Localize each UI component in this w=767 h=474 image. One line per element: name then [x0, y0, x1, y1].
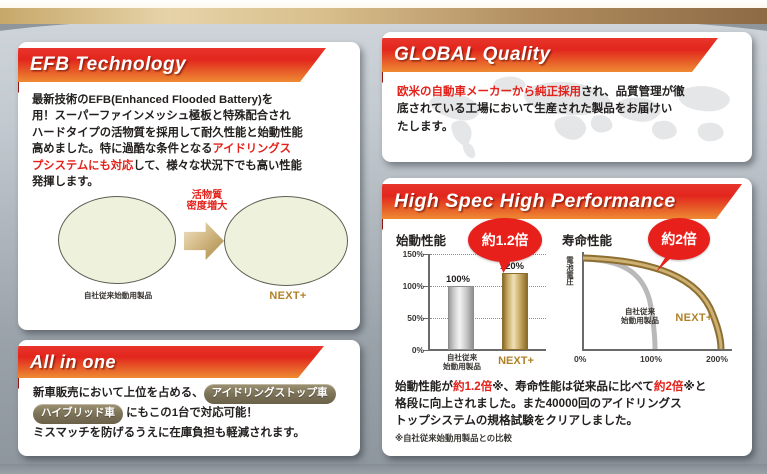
callout-balloon-1-2x-label: 約1.2倍	[482, 230, 528, 250]
ribbon-fold-shape	[382, 219, 383, 230]
diagram-ellipse-next-plus	[224, 196, 348, 286]
chart-title-life-performance: 寿命性能	[562, 230, 612, 249]
diagram-arrow-label: 活物質 密度増大	[180, 190, 234, 213]
card-all-in-one: All in one 新車販売において上位を占める、アイドリングストップ車 ハイ…	[18, 340, 360, 456]
text-span-3-1: アイドリングス	[212, 143, 291, 155]
text-span-0-0: 欧米の自動車メーカーから純正採用	[397, 86, 581, 98]
text-span-2-0: トップシステムの規格試験をクリアしました。	[395, 414, 638, 427]
text-line-1: 底されている工場において生産された製品をお届けい	[397, 101, 747, 118]
card-all-in-one-title: All in one	[30, 352, 116, 373]
text-span-0-2: を	[262, 94, 273, 106]
text-span-0-0: 始動性能が	[395, 380, 453, 393]
text-span-2-0: たします。	[397, 121, 453, 133]
card-global-quality-header-ribbon: GLOBAL Quality	[382, 38, 718, 72]
card-global-quality-paragraph: 欧米の自動車メーカーから純正採用され、品質管理が徹底されている工場において生産さ…	[397, 84, 747, 136]
text-line-3: 高めました。特に過酷な条件となるアイドリングス	[32, 141, 350, 157]
callout-balloon-2x: 約2倍	[648, 218, 710, 260]
line-label-conventional: 自社従来 始動用製品	[612, 308, 668, 325]
card-efb-body: EFB Technology 最新技術のEFB(Enhanced Flooded…	[18, 42, 360, 330]
line-chart-y-axis-label: 電池電圧	[566, 256, 578, 287]
text-line-2: ハードタイプの活物質を採用して耐久性能と始動性能	[32, 125, 350, 141]
ribbon-fold-shape	[18, 378, 19, 389]
efb-density-diagram: 活物質 密度増大 自社従来始動用製品 NEXT+	[28, 192, 353, 320]
card-all-in-one-body: All in one 新車販売において上位を占める、アイドリングストップ車 ハイ…	[18, 340, 360, 456]
card-high-spec-header-ribbon: High Spec High Performance	[382, 184, 742, 219]
card-global-quality-body: GLOBAL Quality 欧米の自動車メーカーから純正採用され、品質管理が徹…	[382, 32, 752, 162]
diagram-caption-conventional: 自社従来始動用製品	[62, 290, 174, 301]
bar-next-plus	[502, 273, 528, 350]
text-line-5: 発揮します。	[32, 174, 350, 190]
text-span-1-0: 用！スーパーファインメッシュ極板と特殊配合され	[32, 110, 291, 122]
text-span-5-0: 発揮します。	[32, 176, 99, 188]
callout-balloon-2x-label: 約2倍	[661, 229, 696, 249]
card-high-spec-body: High Spec High Performance 始動性能 寿命性能 約1.…	[382, 178, 752, 456]
text-span-2-0: ハードタイプの活物質を採用して耐久性能と始動性能	[32, 127, 303, 139]
badge-hybrid-car: ハイブリッド車	[33, 404, 123, 424]
line-xtick-100: 100%	[640, 354, 662, 364]
text-line-1: 用！スーパーファインメッシュ極板と特殊配合され	[32, 108, 350, 124]
text-span-4-0: プシステムにも対応	[32, 160, 133, 172]
card-efb-title: EFB Technology	[30, 54, 186, 76]
bar-chart-start-performance: 0%50%100%150% 100% 120% 自社従来 始動用製品 NEXT+	[390, 250, 556, 378]
callout-balloon-1-2x: 約1.2倍	[468, 218, 542, 262]
card-efb-header-ribbon: EFB Technology	[18, 48, 326, 82]
diagram-caption-next-plus: NEXT+	[236, 290, 340, 302]
card-global-quality: GLOBAL Quality 欧米の自動車メーカーから純正採用され、品質管理が徹…	[382, 32, 752, 162]
card-high-spec-title: High Spec High Performance	[394, 190, 676, 213]
card-high-spec-footer-paragraph: 始動性能が約1.2倍※、寿命性能は従来品に比べて約2倍※と格段に向上されました。…	[395, 378, 743, 429]
line-xtick-0: 0%	[574, 354, 586, 364]
card-efb-technology: EFB Technology 最新技術のEFB(Enhanced Flooded…	[18, 42, 360, 330]
line-label-conventional-line2: 始動用製品	[612, 317, 668, 326]
text-span-0-0: 最新技術の	[32, 94, 89, 106]
text-span-0-6: と	[695, 380, 707, 393]
card-all-in-one-header-ribbon: All in one	[18, 346, 324, 378]
background-floor	[0, 464, 767, 474]
diagram-ellipse-conventional	[58, 196, 176, 284]
card-all-in-one-paragraph: 新車販売において上位を占める、アイドリングストップ車 ハイブリッド車 にもこの1…	[33, 384, 349, 443]
card-high-spec-note: ※自社従来始動用製品との比較	[395, 432, 743, 444]
diagram-arrow-label-line1: 活物質	[180, 190, 234, 201]
bar-category-conventional-line2: 始動用製品	[436, 363, 488, 372]
text-span-3-0: 高めました。特に過酷な条件となる	[32, 143, 212, 155]
card-efb-paragraph: 最新技術のEFB(Enhanced Flooded Battery)を用！スーパ…	[32, 92, 350, 190]
diagram-arrow-label-line2: 密度増大	[180, 201, 234, 212]
background-top-highlight	[0, 0, 767, 8]
aio-line1-text: 新車販売において上位を占める、	[33, 387, 204, 399]
text-line-1: 格段に向上されました。また40000回のアイドリングス	[395, 395, 743, 412]
card-high-spec-high-performance: High Spec High Performance 始動性能 寿命性能 約1.…	[382, 178, 752, 456]
text-line-4: プシステムにも対応して、様々な状況下でも高い性能	[32, 158, 350, 174]
text-span-0-2: ※	[492, 380, 503, 393]
aio-line2-text: にもこの1台で対応可能！	[126, 407, 258, 419]
text-span-0-1: 約1.2倍	[453, 380, 492, 393]
line-chart-life-performance: 電池電圧 自社従来 始動用製品 NEXT+ 0% 100% 200%	[560, 250, 746, 378]
bar-value-conventional: 100%	[446, 273, 470, 284]
text-line-2: たします。	[397, 119, 747, 136]
bar-category-conventional: 自社従来 始動用製品	[436, 354, 488, 371]
text-span-0-1: され、品質管理が徹	[581, 86, 685, 98]
text-line-0: 最新技術のEFB(Enhanced Flooded Battery)を	[32, 92, 350, 108]
badge-idling-stop-car: アイドリングストップ車	[204, 384, 336, 404]
text-span-4-1: して、様々な状況下でも高い性能	[133, 160, 302, 172]
text-line-2: トップシステムの規格試験をクリアしました。	[395, 412, 743, 429]
line-xtick-200: 200%	[706, 354, 728, 364]
text-span-1-0: 格段に向上されました。また40000回のアイドリングス	[395, 397, 682, 410]
line-chart-y-axis-label-text: 電池電圧	[566, 256, 573, 286]
arrow-right-icon	[184, 222, 224, 260]
ribbon-fold-shape	[382, 72, 383, 83]
ribbon-fold-shape	[18, 82, 19, 93]
line-chart-curves	[582, 252, 734, 351]
text-line-0: 欧米の自動車メーカーから純正採用され、品質管理が徹	[397, 84, 747, 101]
aio-line3-text: ミスマッチを防げるうえに在庫負担も軽減されます。	[33, 427, 305, 439]
text-line-0: 始動性能が約1.2倍※、寿命性能は従来品に比べて約2倍※と	[395, 378, 743, 395]
text-span-0-5: ※	[683, 380, 694, 393]
chart-title-start-performance: 始動性能	[396, 230, 446, 249]
card-global-quality-title: GLOBAL Quality	[394, 44, 551, 66]
infographic-root: EFB Technology 最新技術のEFB(Enhanced Flooded…	[0, 0, 767, 474]
card-high-spec-footer: 始動性能が約1.2倍※、寿命性能は従来品に比べて約2倍※と格段に向上されました。…	[395, 378, 743, 444]
text-span-0-3: 、寿命性能は従来品に比べて	[504, 380, 654, 393]
text-span-0-1: EFB(Enhanced Flooded Battery)	[89, 94, 262, 106]
bar-category-next-plus: NEXT+	[490, 355, 542, 368]
bar-conventional	[448, 286, 474, 350]
text-span-0-4: 約2倍	[654, 380, 684, 393]
line-label-next-plus: NEXT+	[666, 312, 722, 325]
text-span-1-0: 底されている工場において生産された製品をお届けい	[397, 103, 672, 115]
